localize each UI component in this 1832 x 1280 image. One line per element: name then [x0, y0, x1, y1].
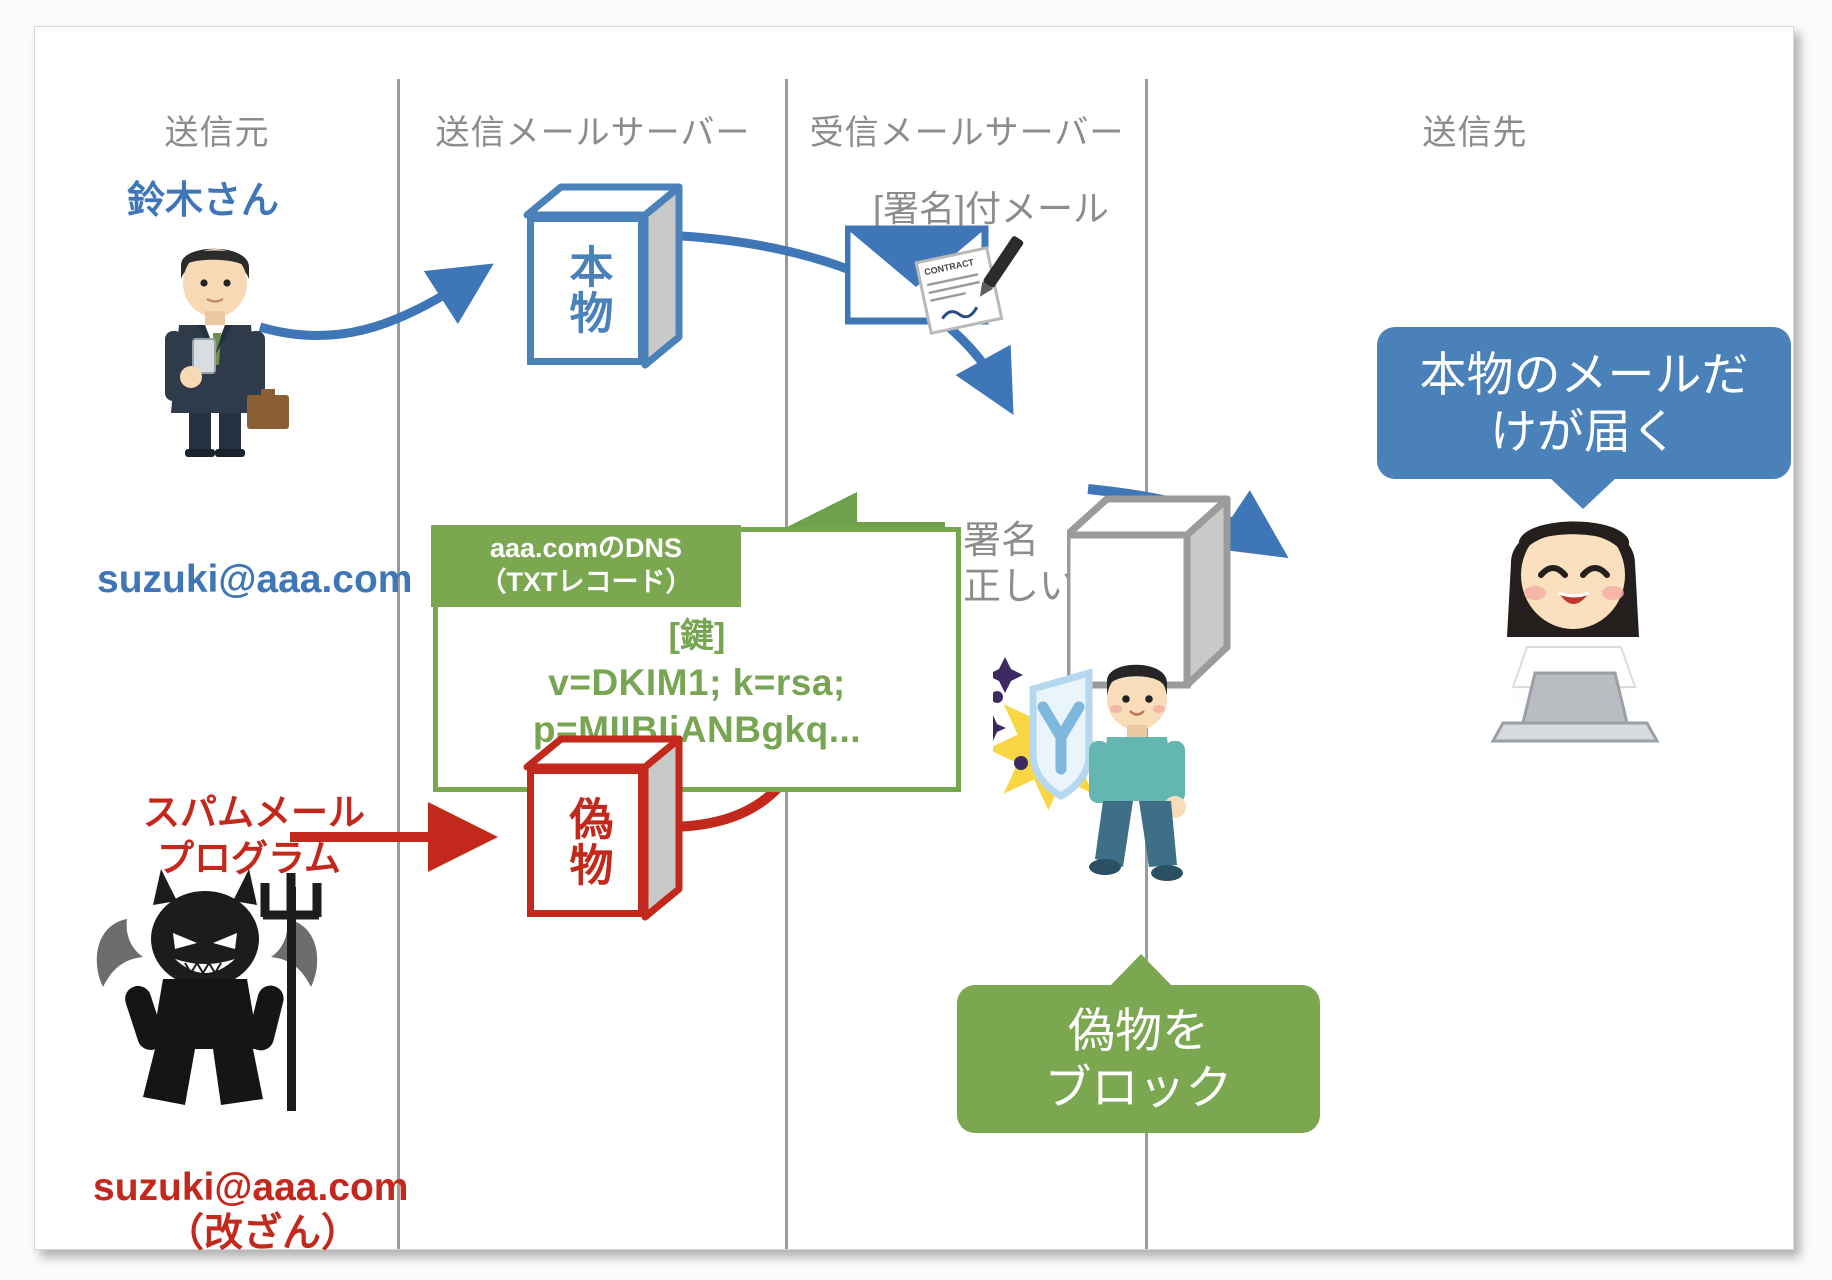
businessman-illustration: [135, 227, 295, 457]
dns-header-line1: aaa.comのDNS: [490, 532, 682, 566]
dns-record-body: [鍵] v=DKIM1; k=rsa; p=MIIBIjANBgkq...: [433, 615, 961, 753]
genuine-delivered-callout: 本物のメールだ けが届く: [1377, 327, 1791, 479]
recipient-illustration: [1475, 497, 1705, 757]
mail-filter-guard-illustration: [993, 645, 1243, 895]
dns-header-line2: （TXTレコード）: [480, 566, 693, 600]
verify-signature-line1: 署名: [963, 519, 1039, 565]
column-header-sender: 送信元: [127, 105, 307, 154]
spammer-name-line1: スパムメール: [143, 791, 365, 835]
block-fake-callout: 偽物を ブロック: [957, 985, 1320, 1133]
callout-tail-green: [1109, 954, 1173, 987]
diagram-card: 送信元 送信メールサーバー 受信メールサーバー 送信先: [34, 26, 1794, 1250]
column-header-outgoing-mail-server: 送信メールサーバー: [425, 105, 761, 154]
column-header-incoming-mail-server: 受信メールサーバー: [805, 105, 1129, 154]
sender-email-label: suzuki@aaa.com: [97, 557, 413, 604]
block-callout-line2: ブロック: [1045, 1059, 1233, 1116]
dns-key-label: [鍵]: [433, 615, 961, 659]
delivered-callout-line1: 本物のメールだ: [1420, 346, 1749, 403]
fake-box-label: 偽物: [527, 767, 645, 917]
genuine-box-label: 本物: [527, 215, 645, 365]
spammer-email-note: （改ざん）: [165, 1211, 360, 1258]
sender-name-label: 鈴木さん: [127, 179, 279, 225]
signed-envelope-illustration: CONTRACT: [845, 225, 1035, 353]
column-header-recipient: 送信先: [1385, 105, 1565, 154]
column-divider-1: [397, 79, 400, 1249]
devil-illustration: [91, 867, 341, 1117]
signed-mail-label: [署名]付メール: [873, 187, 1109, 230]
dns-record-line1: v=DKIM1; k=rsa;: [433, 659, 961, 706]
delivered-callout-line2: けが届く: [1490, 403, 1678, 460]
spammer-email-label: suzuki@aaa.com: [93, 1165, 409, 1212]
block-callout-line1: 偽物を: [1068, 1002, 1209, 1059]
genuine-mail-box: 本物: [527, 187, 717, 387]
dns-record-header: aaa.comのDNS （TXTレコード）: [431, 525, 741, 607]
fake-mail-box: 偽物: [527, 739, 717, 939]
diagram-canvas: 送信元 送信メールサーバー 受信メールサーバー 送信先: [0, 0, 1832, 1280]
